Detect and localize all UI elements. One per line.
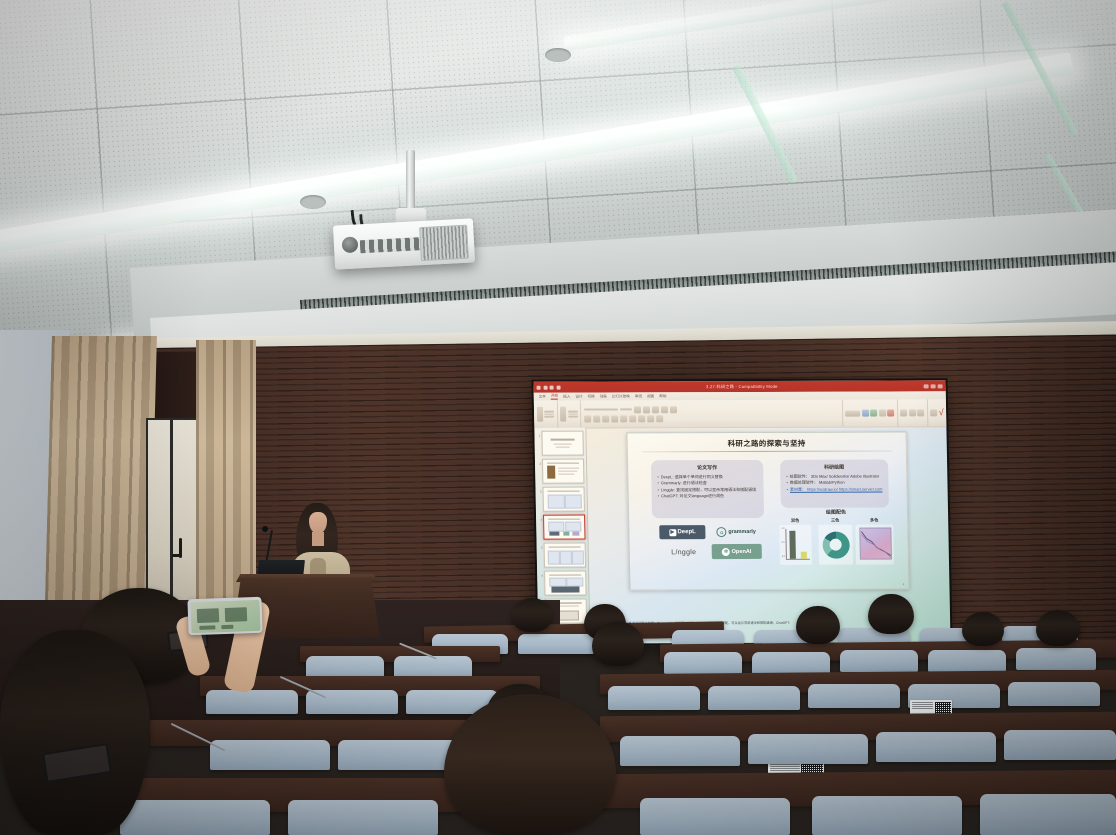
phone-slide-logo: [199, 625, 215, 630]
audience-head: [962, 612, 1004, 646]
tab-animations[interactable]: 动画: [600, 394, 607, 399]
bullet-item: • 绘图软件： 3Ds Max/ Solidworks/ Adobe Illus…: [786, 473, 882, 479]
thumbnail-number: 5: [539, 543, 543, 550]
thumb-box: [565, 495, 582, 509]
paste-icon[interactable]: [536, 407, 542, 422]
heatmap-trend-line: [859, 528, 893, 558]
arrange-icon[interactable]: [862, 410, 869, 417]
slide-title-divider: [642, 450, 892, 452]
bullet-item: • DeepL: 选择单个单词进行同义替换: [657, 473, 757, 479]
align-center-icon[interactable]: [629, 415, 636, 422]
thumb-image-block: [548, 466, 556, 479]
thumb-title-line: [548, 490, 580, 492]
thumb-logo-block: [550, 532, 560, 536]
thumbnail-item: 1: [536, 431, 583, 456]
slide-title: 科研之路的探索与坚持: [628, 437, 906, 449]
bullet-text: Grammarly: 进行语法检查: [661, 480, 758, 486]
text-shadow-icon[interactable]: [660, 406, 667, 413]
deepl-logo: ▶ DeepL: [659, 525, 705, 539]
seat[interactable]: [1004, 730, 1116, 760]
seat[interactable]: [608, 686, 700, 710]
seat[interactable]: [206, 690, 298, 714]
slide-thumbnail-5[interactable]: [544, 543, 586, 568]
thumb-sub-line: [554, 444, 572, 445]
heatmap-figure: [855, 524, 894, 564]
projector-lens-icon: [342, 236, 359, 253]
layout-icon[interactable]: [568, 411, 578, 413]
ribbon-group-drawing[interactable]: [842, 399, 898, 426]
thumb-box: [549, 522, 565, 532]
ribbon-group-editing[interactable]: [897, 399, 928, 426]
thumb-title-line: [550, 574, 582, 576]
format-painter-icon[interactable]: [544, 416, 554, 418]
bullet-dot-icon: •: [786, 473, 788, 479]
ribbon-group-clipboard[interactable]: [534, 401, 558, 428]
bar-series-1: [789, 531, 796, 559]
tab-help[interactable]: 帮助: [659, 394, 666, 399]
seat[interactable]: [876, 732, 996, 762]
grid-addin-icon[interactable]: [930, 409, 937, 416]
bold-icon[interactable]: [633, 406, 640, 413]
palette-section: 绘图配色 双色 1.0 0.5 0.0: [777, 508, 896, 580]
bullet-dot-icon: •: [658, 487, 660, 493]
lecture-hall-photo: 3.27-科研之路 - Compatibility Mode 文件 开始 插入 …: [0, 0, 1116, 835]
linggle-label: L/nggle: [671, 549, 696, 556]
openai-label: OpenAI: [731, 548, 751, 554]
chart-baseline: [786, 559, 810, 560]
thumb-sub-line: [559, 474, 575, 475]
ceiling-vent-icon: [545, 48, 571, 62]
numbering-icon[interactable]: [593, 415, 600, 422]
phone-slide-panel-left: [196, 608, 218, 623]
text-direction-icon[interactable]: [647, 415, 654, 422]
bullet-dot-icon: •: [657, 480, 659, 486]
thumbnail-item: 4: [538, 515, 585, 540]
thumb-box: [548, 495, 565, 509]
openai-logo: ✻ OpenAI: [712, 544, 762, 559]
thumb-title-line: [551, 439, 575, 441]
palette-item-three-color: 三色: [818, 518, 853, 565]
seat[interactable]: [840, 650, 918, 672]
seat[interactable]: [812, 796, 962, 835]
current-slide[interactable]: 科研之路的探索与坚持 论文写作 • DeepL: 选择单个单词进行同义替换 • …: [626, 431, 909, 590]
window-handle-icon[interactable]: [179, 538, 182, 558]
thumb-sub-line: [559, 471, 578, 472]
tab-transitions[interactable]: 切换: [587, 394, 594, 399]
thumb-box: [567, 578, 584, 587]
bullet-text: ChatGPT: 对论文language进行润色: [661, 493, 758, 499]
bullet-item: • 素材库： https://scidraw.io/ https://smart…: [787, 486, 883, 492]
seat[interactable]: [620, 736, 740, 766]
slide-editing-area[interactable]: 科研之路的探索与坚持 论文写作 • DeepL: 选择单个单词进行同义替换 • …: [588, 427, 948, 617]
thumbnail-number: 3: [537, 487, 541, 494]
new-slide-icon[interactable]: [560, 407, 566, 422]
phone-slide-logo: [221, 624, 233, 628]
indent-icon[interactable]: [602, 415, 609, 422]
seat[interactable]: [664, 652, 742, 674]
font-color-icon[interactable]: [669, 406, 676, 413]
italic-icon[interactable]: [642, 406, 649, 413]
shapes-gallery-icon[interactable]: [845, 410, 860, 416]
panel-heading-right: 科研绘图: [786, 464, 882, 471]
openai-mark-icon: ✻: [722, 548, 730, 556]
replace-icon[interactable]: [909, 409, 916, 416]
microphone-icon: [262, 526, 268, 532]
audience-head-foreground: [444, 694, 616, 835]
thumb-title-line: [549, 546, 581, 548]
grammarly-logo: G grammarly: [711, 525, 761, 539]
quick-styles-icon[interactable]: [870, 410, 877, 417]
seat[interactable]: [708, 686, 800, 710]
palette-item-two-color: 双色 1.0 0.5 0.0: [779, 518, 812, 565]
palette-caption: 多色: [855, 517, 893, 523]
select-icon[interactable]: [917, 409, 924, 416]
thumb-box: [572, 551, 584, 565]
seat[interactable]: [1008, 682, 1100, 706]
deepl-label: DeepL: [677, 529, 695, 535]
audience-head: [868, 594, 914, 634]
thumbnail-item: 6: [539, 571, 586, 596]
linggle-logo: L/nggle: [658, 545, 710, 559]
seat[interactable]: [288, 800, 438, 835]
undo-icon[interactable]: [543, 385, 547, 389]
ceiling-vent-icon: [300, 195, 326, 209]
thumb-image-block: [552, 587, 580, 593]
quick-access-toolbar[interactable]: [537, 385, 561, 389]
tab-insert[interactable]: 插入: [563, 394, 570, 399]
ribbon-toolbar[interactable]: √: [534, 399, 947, 428]
thumb-logo-block: [573, 532, 580, 536]
seat[interactable]: [338, 740, 458, 770]
bullet-text: Linggle: 查找固定搭配，可以显示常用语法和搭配语境: [661, 487, 758, 493]
find-icon[interactable]: [900, 409, 907, 416]
thumb-title-line: [547, 462, 579, 464]
tab-slideshow[interactable]: 幻灯片放映: [612, 394, 630, 399]
donut-ring: [822, 531, 850, 558]
restore-icon[interactable]: [931, 384, 936, 388]
bullets-icon[interactable]: [584, 415, 591, 422]
seat[interactable]: [120, 800, 270, 835]
thumb-sub-line: [559, 468, 580, 469]
thumbnail-item: 3: [537, 487, 584, 512]
equation-addin-icon[interactable]: √: [939, 408, 944, 417]
redo-icon[interactable]: [550, 385, 554, 389]
ribbon-group-font-paragraph[interactable]: [581, 400, 843, 428]
convert-smartart-icon[interactable]: [656, 415, 663, 422]
seat[interactable]: [748, 734, 868, 764]
bullet-item: • ChatGPT: 对论文language进行润色: [658, 493, 758, 499]
axis-tick: 0.5: [782, 542, 785, 544]
font-name-box[interactable]: [583, 409, 617, 411]
tab-home[interactable]: 开始: [551, 394, 558, 400]
seat[interactable]: [808, 684, 900, 708]
bar-chart-figure: 1.0 0.5 0.0: [779, 525, 812, 565]
ribbon-group-slides[interactable]: [557, 401, 581, 428]
thumbnail-item: 2: [537, 459, 584, 484]
thumbnail-number: 4: [538, 515, 542, 522]
bullet-text: 绘图软件： 3Ds Max/ Solidworks/ Adobe Illustr…: [790, 473, 883, 479]
shape-outline-icon[interactable]: [887, 409, 894, 416]
line-spacing-icon[interactable]: [611, 415, 618, 422]
document-title: 3.27-科研之路 - Compatibility Mode: [560, 383, 924, 390]
bar-series-2: [801, 552, 807, 559]
axis-tick: 1.0: [781, 528, 784, 530]
palette-heading: 绘图配色: [777, 508, 895, 515]
donut-chart-figure: [818, 525, 853, 565]
columns-icon[interactable]: [638, 415, 645, 422]
phone-slide-panel-right: [224, 607, 246, 622]
ribbon-group-addins[interactable]: √: [927, 399, 946, 426]
panel-paper-writing: 论文写作 • DeepL: 选择单个单词进行同义替换 • Grammarly: …: [651, 460, 764, 518]
palette-caption: 双色: [779, 518, 811, 524]
projector-vent-icon: [419, 225, 469, 261]
slide-thumbnail-6[interactable]: [545, 571, 587, 596]
slide-thumbnail-1[interactable]: [542, 431, 584, 456]
grammarly-mark-icon: G: [717, 527, 727, 537]
align-left-icon[interactable]: [620, 415, 627, 422]
tab-file[interactable]: 文件: [539, 394, 546, 399]
axis-tick: 0.0: [782, 556, 785, 558]
shape-fill-icon[interactable]: [879, 410, 886, 417]
window-controls[interactable]: [924, 384, 943, 388]
tab-view[interactable]: 视图: [647, 394, 654, 399]
bullet-dot-icon: •: [787, 487, 789, 493]
bullet-item: • Linggle: 查找固定搭配，可以显示常用语法和搭配语境: [658, 487, 758, 493]
seat[interactable]: [980, 794, 1116, 835]
seat[interactable]: [640, 798, 790, 835]
copy-icon[interactable]: [544, 413, 554, 415]
bullet-item: • 数据处理软件： Matlab/Python: [786, 480, 882, 486]
seat[interactable]: [928, 650, 1006, 672]
grammarly-label: grammarly: [728, 529, 756, 535]
tab-design[interactable]: 设计: [575, 394, 582, 399]
palette-caption: 三色: [818, 518, 852, 524]
projector-ports: [360, 237, 423, 253]
save-icon[interactable]: [537, 385, 541, 389]
audience-head: [796, 606, 840, 644]
thumb-logo-block: [564, 532, 570, 536]
thumb-box: [550, 578, 567, 587]
thumbnail-number: 2: [537, 459, 541, 466]
seat[interactable]: [306, 656, 384, 678]
seat[interactable]: [518, 634, 594, 654]
audience-head: [1036, 610, 1080, 646]
audience-head: [512, 598, 552, 632]
phone-screen[interactable]: [190, 599, 260, 632]
tool-logo-grid: ▶ DeepL G grammarly L/nggle ✻ OpenAI: [655, 523, 764, 571]
bullet-dot-icon: •: [786, 480, 788, 486]
bullet-dot-icon: •: [657, 474, 659, 480]
smartphone[interactable]: [187, 597, 262, 636]
audience-head: [592, 622, 644, 666]
slide-page-number: 4: [903, 582, 905, 586]
palette-item-multi-color: 多色: [855, 517, 894, 564]
minimize-icon[interactable]: [924, 384, 929, 388]
thumb-box: [566, 522, 582, 532]
thumbnail-item: 5: [539, 543, 586, 568]
font-size-box[interactable]: [619, 409, 631, 411]
cut-icon[interactable]: [544, 411, 554, 413]
bullet-item: • Grammarly: 进行语法检查: [657, 480, 757, 486]
seat[interactable]: [394, 656, 472, 678]
seat[interactable]: [752, 652, 830, 674]
close-icon[interactable]: [938, 384, 943, 388]
audience-head-foreground: [0, 630, 150, 835]
thumb-sub-line: [556, 447, 570, 448]
panel-scientific-illustration: 科研绘图 • 绘图软件： 3Ds Max/ Solidworks/ Adobe …: [780, 459, 889, 507]
presenter-neck: [312, 532, 324, 546]
chart-axis: [785, 529, 786, 559]
thumbnail-number: 1: [536, 431, 540, 438]
section-icon[interactable]: [568, 416, 578, 418]
thumb-title-line: [549, 518, 581, 520]
bullet-dot-icon: •: [658, 494, 660, 500]
thumb-box: [548, 551, 560, 565]
seat[interactable]: [1016, 648, 1096, 670]
bullet-text: DeepL: 选择单个单词进行同义替换: [661, 473, 758, 479]
ceiling-mounted-projector: [333, 218, 475, 269]
slide-thumbnail-3[interactable]: [543, 487, 585, 512]
bullet-text-link[interactable]: 素材库： https://scidraw.io/ https://smart.s…: [790, 486, 883, 492]
bullet-text: 数据处理软件： Matlab/Python: [790, 480, 883, 486]
seat[interactable]: [210, 740, 330, 770]
slide-thumbnail-4-selected[interactable]: [543, 515, 585, 540]
slide-thumbnail-2[interactable]: [542, 459, 584, 484]
thumbnail-number: 6: [539, 571, 543, 578]
thumb-box: [560, 551, 572, 565]
panel-heading-left: 论文写作: [657, 464, 757, 471]
reset-icon[interactable]: [568, 413, 578, 415]
tab-review[interactable]: 审阅: [635, 394, 642, 399]
underline-icon[interactable]: [651, 406, 658, 413]
deepl-mark-icon: ▶: [669, 529, 676, 536]
